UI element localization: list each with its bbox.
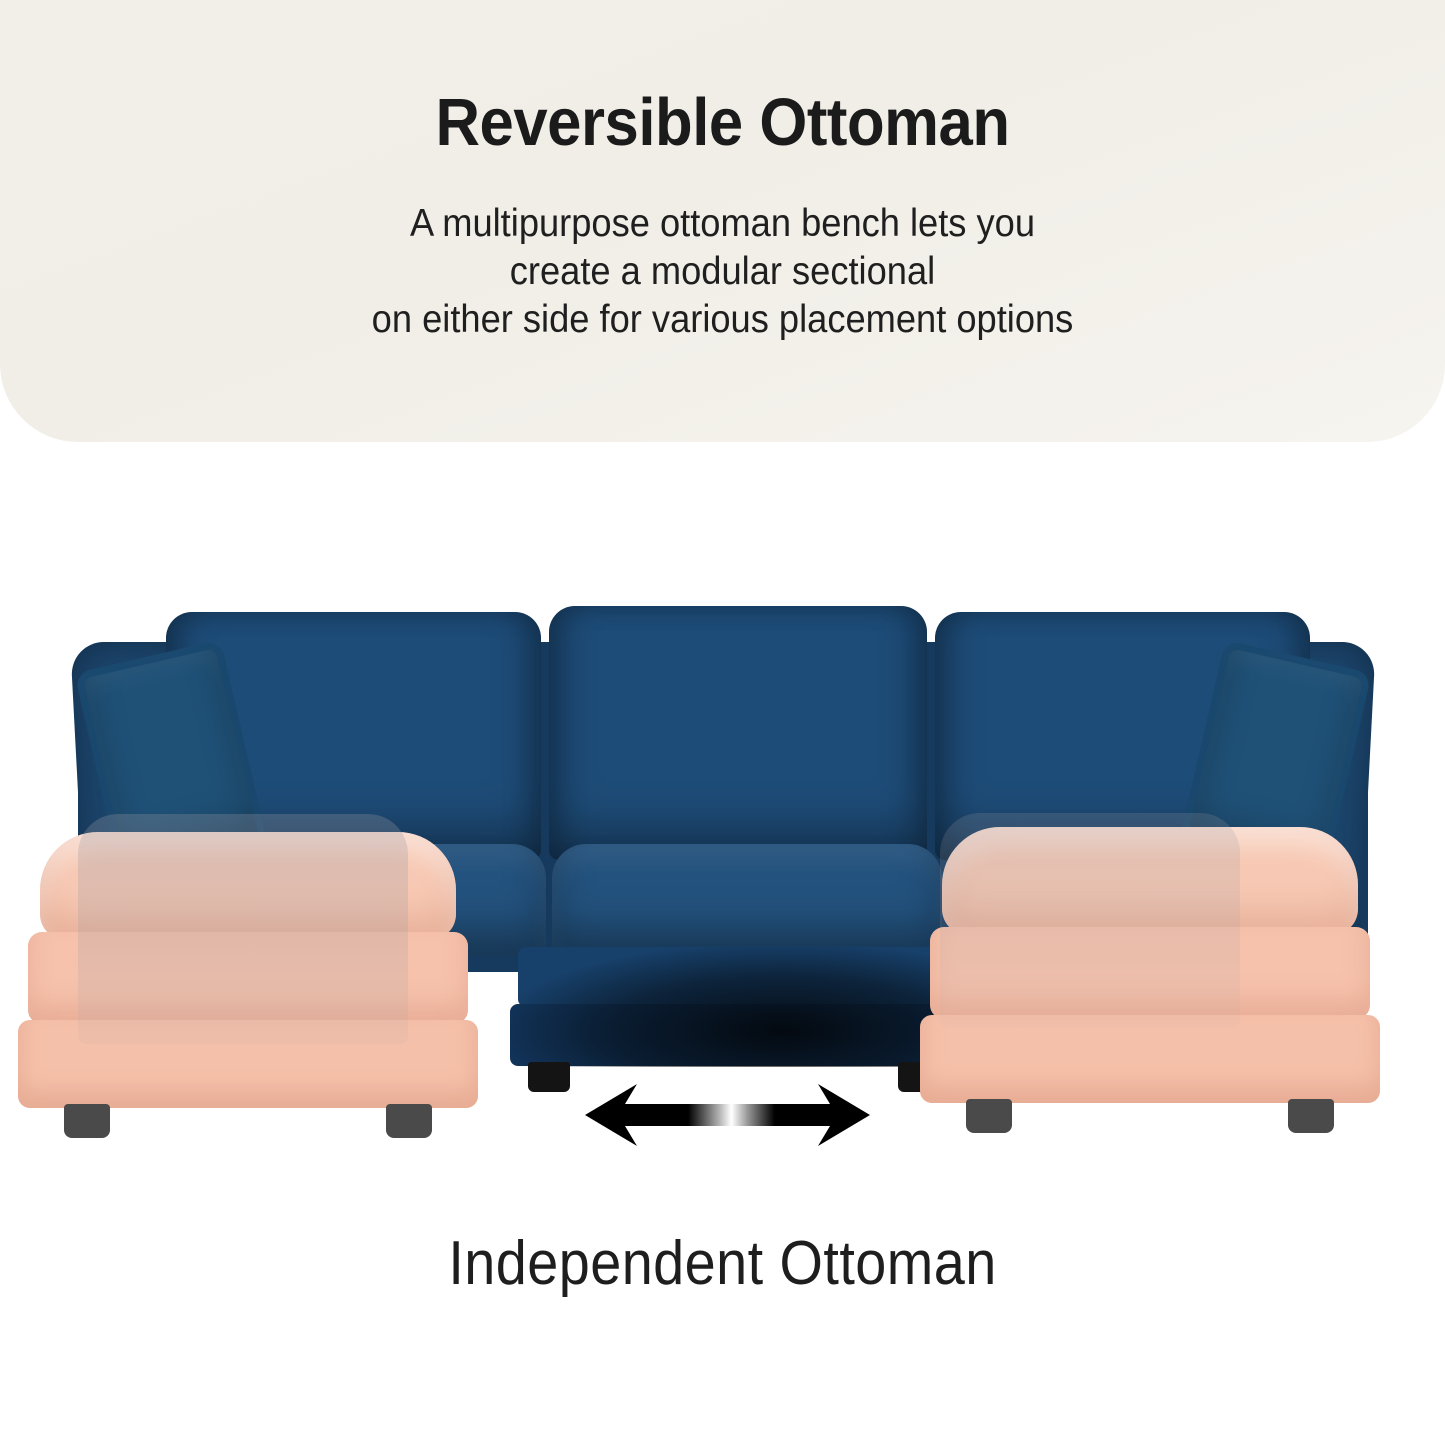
- back-cushion: [549, 606, 927, 860]
- ottoman-foot: [1288, 1099, 1334, 1133]
- page-title: Reversible Ottoman: [58, 84, 1387, 161]
- sofa-foot: [528, 1062, 570, 1092]
- double-headed-arrow-icon: [585, 1082, 870, 1148]
- ottoman-left[interactable]: [18, 832, 478, 1142]
- banner-description: A multipurpose ottoman bench lets you cr…: [51, 200, 1395, 344]
- ottoman-foot: [966, 1099, 1012, 1133]
- ottoman-right[interactable]: [920, 827, 1380, 1137]
- reversible-direction-arrow: [585, 1082, 870, 1148]
- banner-description-line-3: on either side for various placement opt…: [51, 296, 1395, 344]
- header-banner: Reversible Ottoman A multipurpose ottoma…: [0, 0, 1445, 442]
- ottoman-ghost-overlay: [940, 813, 1240, 1028]
- seat-cushion: [552, 844, 942, 956]
- ottoman-base: [920, 1015, 1380, 1103]
- banner-description-line-2: create a modular sectional: [51, 248, 1395, 296]
- ottoman-foot: [64, 1104, 110, 1138]
- sofa-base-shadow: [510, 947, 948, 1067]
- product-caption: Independent Ottoman: [72, 1228, 1373, 1299]
- ottoman-foot: [386, 1104, 432, 1138]
- ottoman-ghost-overlay: [78, 814, 408, 1044]
- banner-description-line-1: A multipurpose ottoman bench lets you: [51, 200, 1395, 248]
